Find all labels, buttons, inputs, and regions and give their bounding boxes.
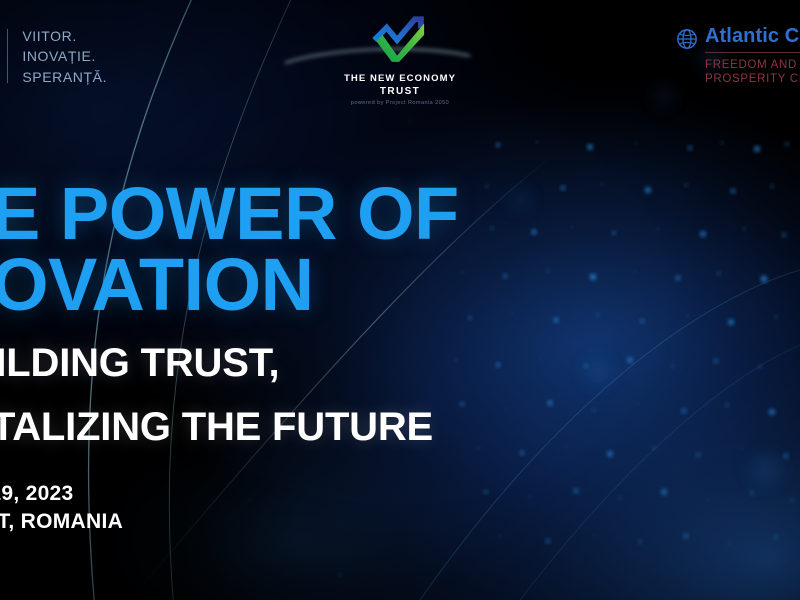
main-subtitle-line-1: BUILDING TRUST, — [0, 342, 638, 384]
atlantic-council-subtitle-line-1: FREEDOM AND — [705, 58, 800, 72]
event-location: AREST, ROMANIA — [0, 508, 123, 536]
logo-line-the-new-economy: THE NEW ECONOMY — [305, 73, 495, 84]
logo-divider — [7, 29, 8, 83]
romania-2050-tagline: VIITOR. INOVAȚIE. SPERANȚĂ. — [22, 26, 107, 87]
logo-header: NIA O VIITOR. INOVAȚIE. SPERANȚĂ. — [0, 0, 800, 120]
logo-line-trust: TRUST — [305, 86, 495, 97]
globe-icon — [676, 28, 698, 50]
event-date: BER 19, 2023 — [0, 480, 123, 508]
main-title-line-2: NOVATION — [0, 249, 638, 320]
event-title-slide: NIA O VIITOR. INOVAȚIE. SPERANȚĂ. — [0, 0, 800, 600]
tagline-line-1: VIITOR. — [22, 26, 107, 46]
headline-block: HE POWER OF NOVATION BUILDING TRUST, YST… — [0, 178, 638, 449]
logo-line-powered-by: powered by Project Romania 2050 — [305, 100, 495, 106]
tagline-line-2: INOVAȚIE. — [22, 46, 107, 66]
atlantic-council-rule — [705, 52, 800, 53]
event-details: BER 19, 2023 AREST, ROMANIA — [0, 480, 123, 535]
the-new-economy-trust-logo: THE NEW ECONOMY TRUST powered by Project… — [305, 12, 495, 106]
atlantic-council-name: Atlantic Co — [705, 26, 800, 46]
atlantic-council-subtitle-line-2: PROSPERITY CEN — [705, 72, 800, 86]
romania-2050-logo: NIA O VIITOR. INOVAȚIE. SPERANȚĂ. — [0, 26, 107, 87]
atlantic-council-logo: Atlantic Co FREEDOM AND PROSPERITY CEN — [676, 26, 800, 87]
atlantic-council-wordmark: Atlantic Co FREEDOM AND PROSPERITY CEN — [705, 26, 800, 87]
main-title-line-1: HE POWER OF — [0, 178, 638, 249]
checkmark-arrow-icon — [369, 12, 431, 64]
tagline-line-3: SPERANȚĂ. — [22, 67, 107, 87]
main-subtitle-line-2: YSTALIZING THE FUTURE — [0, 406, 638, 448]
